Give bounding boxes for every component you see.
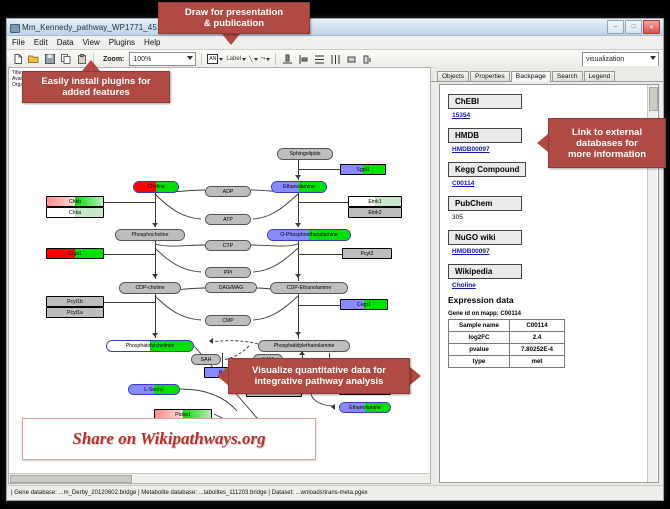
db-section-pubchem: PubChem 305	[448, 193, 650, 221]
side-panel-tabs: Objects Properties Backpage Search Legen…	[431, 68, 663, 82]
db-header: PubChem	[448, 196, 522, 211]
db-header: HMDB	[448, 128, 522, 143]
callout-visualize-pointer-left	[217, 367, 228, 385]
callout-visualize-line2: integrative pathway analysis	[255, 376, 384, 387]
gene-label: Pcyt2	[361, 251, 374, 257]
callout-link-pointer	[537, 134, 548, 152]
menu-item-plugins[interactable]: Plugins	[109, 38, 135, 47]
new-file-icon[interactable]	[11, 53, 24, 66]
zoom-label: Zoom:	[103, 56, 124, 63]
label-tool[interactable]: Label	[226, 56, 246, 62]
stack-icon[interactable]	[345, 53, 358, 66]
metabolite-label: SAH	[201, 357, 212, 363]
distribute-horizontal-icon[interactable]	[329, 53, 342, 66]
save-icon[interactable]	[43, 53, 56, 66]
metabolite-node[interactable]: Phosphatidylcholines	[106, 340, 194, 352]
gene-label: Pcyt1b	[67, 299, 83, 305]
tab-legend[interactable]: Legend	[584, 71, 616, 81]
screenshot-root: Mm_Kennedy_pathway_WP1771_45176.gpml – □…	[0, 0, 670, 509]
menu-item-view[interactable]: View	[83, 38, 100, 47]
metabolite-label: Choline	[147, 184, 165, 190]
datanode-tool[interactable]: AN	[207, 54, 223, 64]
db-header: NuGO wiki	[448, 230, 522, 245]
table-row: Sample name C00114	[449, 320, 565, 332]
gene-node[interactable]: Cept1	[340, 299, 388, 310]
gene-label: Pcyt1a	[67, 310, 83, 316]
gene-node[interactable]: Pcyt2	[342, 248, 392, 259]
expression-table: Sample name C00114 log2FC 2.4 pvalue 7.8…	[448, 319, 565, 368]
db-section-nugo: NuGO wiki HMDB00097	[448, 227, 650, 255]
arc-icon: ⤳	[261, 56, 266, 63]
copy-icon[interactable]	[59, 53, 72, 66]
row-value: 7.80252E-4	[510, 344, 565, 356]
menu-bar: File Edit Data View Plugins Help	[7, 36, 663, 50]
chevron-down-icon	[187, 56, 193, 60]
gene-node[interactable]: Chpt1	[46, 248, 104, 259]
tab-properties[interactable]: Properties	[470, 71, 510, 81]
metabolite-node[interactable]: ATP	[205, 214, 251, 225]
table-row: pvalue 7.80252E-4	[449, 344, 565, 356]
db-section-wikipedia: Wikipedia Choline	[448, 261, 650, 289]
metabolite-node[interactable]: CMP	[205, 315, 251, 326]
callout-visualize-line1: Visualize quantitative data for	[252, 365, 386, 376]
row-value: 2.4	[510, 332, 565, 344]
close-button[interactable]: ✕	[643, 20, 660, 34]
tab-search[interactable]: Search	[552, 71, 583, 81]
metabolite-node[interactable]: Phosphocholine	[115, 229, 185, 241]
gene-node[interactable]: Etnk1	[348, 196, 402, 207]
db-link[interactable]: HMDB00097	[452, 248, 650, 255]
gene-label: Etnk2	[368, 210, 381, 216]
gene-node[interactable]: Chka	[46, 207, 104, 218]
metabolite-node[interactable]: PPi	[205, 267, 251, 278]
gene-label: Cept1	[357, 302, 371, 308]
gene-label: Ptdss1	[175, 412, 191, 418]
db-value: 305	[452, 214, 650, 221]
metabolite-label: ADP	[223, 189, 234, 195]
row-key: log2FC	[449, 332, 510, 344]
callout-plugins-pointer	[82, 60, 100, 71]
metabolite-label: Sphingolipids	[290, 151, 321, 157]
chevron-down-icon	[219, 58, 223, 61]
expression-data-heading: Expression data	[448, 295, 650, 305]
metabolite-label: Phosphocholine	[132, 232, 169, 238]
metabolite-node[interactable]: Choline	[133, 181, 179, 193]
tab-objects[interactable]: Objects	[437, 71, 469, 81]
callout-share: Share on Wikipathways.org	[22, 418, 316, 460]
line-icon: ╲	[249, 56, 253, 63]
callout-link-line1: Link to external	[572, 127, 642, 138]
metabolite-label: ATP	[223, 217, 233, 223]
callout-link: Link to external databases for more info…	[548, 118, 666, 168]
title-bar: Mm_Kennedy_pathway_WP1771_45176.gpml – □…	[7, 19, 663, 36]
db-header: Kegg Compound	[448, 162, 526, 177]
metabolite-node[interactable]: DAG/MAG	[205, 282, 257, 293]
db-header: ChEBI	[448, 94, 522, 109]
row-value: met	[510, 356, 565, 368]
callout-plugins: Easily install plugins for added feature…	[22, 71, 170, 103]
metabolite-label: Phosphatidylcholines	[126, 343, 175, 349]
callout-visualize: Visualize quantitative data for integrat…	[228, 358, 410, 394]
gene-node[interactable]: Etnk2	[348, 207, 402, 218]
chevron-down-icon	[266, 58, 270, 61]
callout-draw-line1: Draw for presentation	[185, 7, 283, 18]
metabolite-node[interactable]: CDP-choline	[119, 282, 181, 294]
align-bottom-icon[interactable]	[281, 53, 294, 66]
gene-label: Chpt1	[68, 251, 82, 257]
chevron-down-icon	[242, 58, 246, 61]
chevron-down-icon	[650, 56, 656, 60]
callout-share-text: Share on Wikipathways.org	[72, 429, 265, 449]
metabolite-label: PPi	[224, 270, 232, 276]
toolbar-separator-3	[275, 53, 276, 65]
metabolite-label: O-Phosphoethanolamine	[280, 232, 337, 238]
gene-id-line: Gene id on mapp: C00114	[448, 311, 650, 317]
metabolite-node[interactable]: ADP	[205, 186, 251, 197]
window-controls: – □ ✕	[607, 20, 660, 34]
metabolite-label: CTP	[223, 243, 233, 249]
chevron-down-icon	[254, 58, 258, 61]
gene-node[interactable]: Pcyt1b	[46, 296, 104, 307]
table-row: log2FC 2.4	[449, 332, 565, 344]
metabolite-node[interactable]: CTP	[205, 240, 251, 251]
metabolite-node[interactable]: O-Phosphoethanolamine	[267, 229, 351, 241]
metabolite-node[interactable]: Ethanolamine	[339, 402, 391, 413]
gene-label: Chkb	[69, 199, 81, 205]
callout-link-line3: more information	[568, 149, 646, 160]
db-link[interactable]: Choline	[452, 282, 650, 289]
db-header: Wikipedia	[448, 264, 522, 279]
gene-node[interactable]: Pcyt1a	[46, 307, 104, 318]
metabolite-label: CMP	[222, 318, 234, 324]
metabolite-label: L-Serine	[144, 387, 164, 393]
callout-plugins-line2: added features	[62, 87, 130, 98]
metabolite-label: Ethanolamine	[349, 405, 381, 411]
metabolite-label: CDP-Ethanolamine	[287, 285, 331, 291]
gene-label: Sgpl1	[356, 167, 369, 173]
open-folder-icon[interactable]	[27, 53, 40, 66]
callout-plugins-line1: Easily install plugins for	[41, 76, 150, 87]
visualization-combobox[interactable]: visualization	[582, 52, 659, 67]
metabolite-node[interactable]: CDP-Ethanolamine	[270, 282, 348, 294]
order-icon[interactable]	[361, 53, 374, 66]
minimize-button[interactable]: –	[607, 20, 624, 34]
metabolite-node[interactable]: Ethanolamine	[271, 181, 327, 193]
metabolite-node[interactable]: L-Serine	[128, 384, 180, 395]
line-tool[interactable]: ╲	[249, 56, 258, 63]
distribute-vertical-icon[interactable]	[313, 53, 326, 66]
db-section-chebi: ChEBI 15354	[448, 91, 650, 119]
datanode-icon: AN	[207, 54, 218, 64]
metabolite-node[interactable]: SAH	[191, 354, 221, 365]
callout-draw-pointer	[222, 34, 240, 45]
label-tool-text: Label	[226, 56, 241, 62]
gene-label: Chka	[69, 210, 81, 216]
backpage-vscroll-thumb[interactable]	[649, 87, 658, 111]
arc-tool[interactable]: ⤳	[261, 56, 271, 63]
zoom-combobox[interactable]: 100%	[129, 52, 196, 66]
tab-backpage[interactable]: Backpage	[511, 71, 551, 82]
gene-node[interactable]: Chkb	[46, 196, 104, 207]
row-key: type	[449, 356, 510, 368]
menu-item-help[interactable]: Help	[144, 38, 160, 47]
toolbar-separator-2	[201, 53, 202, 65]
metabolite-node[interactable]: Sphingolipids	[277, 148, 333, 160]
metabolite-label: Phosphatidylethanolamine	[274, 343, 335, 349]
metabolite-label: Ethanolamine	[283, 184, 315, 190]
metabolite-node[interactable]: Phosphatidylethanolamine	[258, 340, 350, 352]
visualization-value: visualization	[586, 56, 624, 63]
align-left-icon[interactable]	[297, 53, 310, 66]
status-text: | Gene database: ...m_Derby_20120602.bri…	[11, 490, 368, 496]
row-key: pvalue	[449, 344, 510, 356]
metabolite-label: CDP-choline	[135, 285, 164, 291]
callout-visualize-pointer-right	[410, 367, 421, 385]
menu-item-file[interactable]: File	[12, 38, 25, 47]
callout-draw: Draw for presentation & publication	[158, 2, 310, 34]
menu-item-data[interactable]: Data	[57, 38, 74, 47]
callout-draw-line2: & publication	[204, 18, 264, 29]
gene-label: Etnk1	[368, 199, 381, 205]
menu-item-edit[interactable]: Edit	[34, 38, 48, 47]
db-link[interactable]: C00114	[452, 180, 650, 187]
callout-link-line2: databases for	[576, 138, 638, 149]
metabolite-label: DAG/MAG	[219, 285, 244, 291]
zoom-value: 100%	[133, 56, 151, 63]
row-value: C00114	[510, 320, 565, 332]
app-icon	[10, 23, 19, 32]
status-bar: | Gene database: ...m_Derby_20120602.bri…	[7, 485, 663, 500]
table-row: type met	[449, 356, 565, 368]
gene-node[interactable]: Sgpl1	[340, 164, 386, 175]
maximize-button[interactable]: □	[625, 20, 642, 34]
row-key: Sample name	[449, 320, 510, 332]
